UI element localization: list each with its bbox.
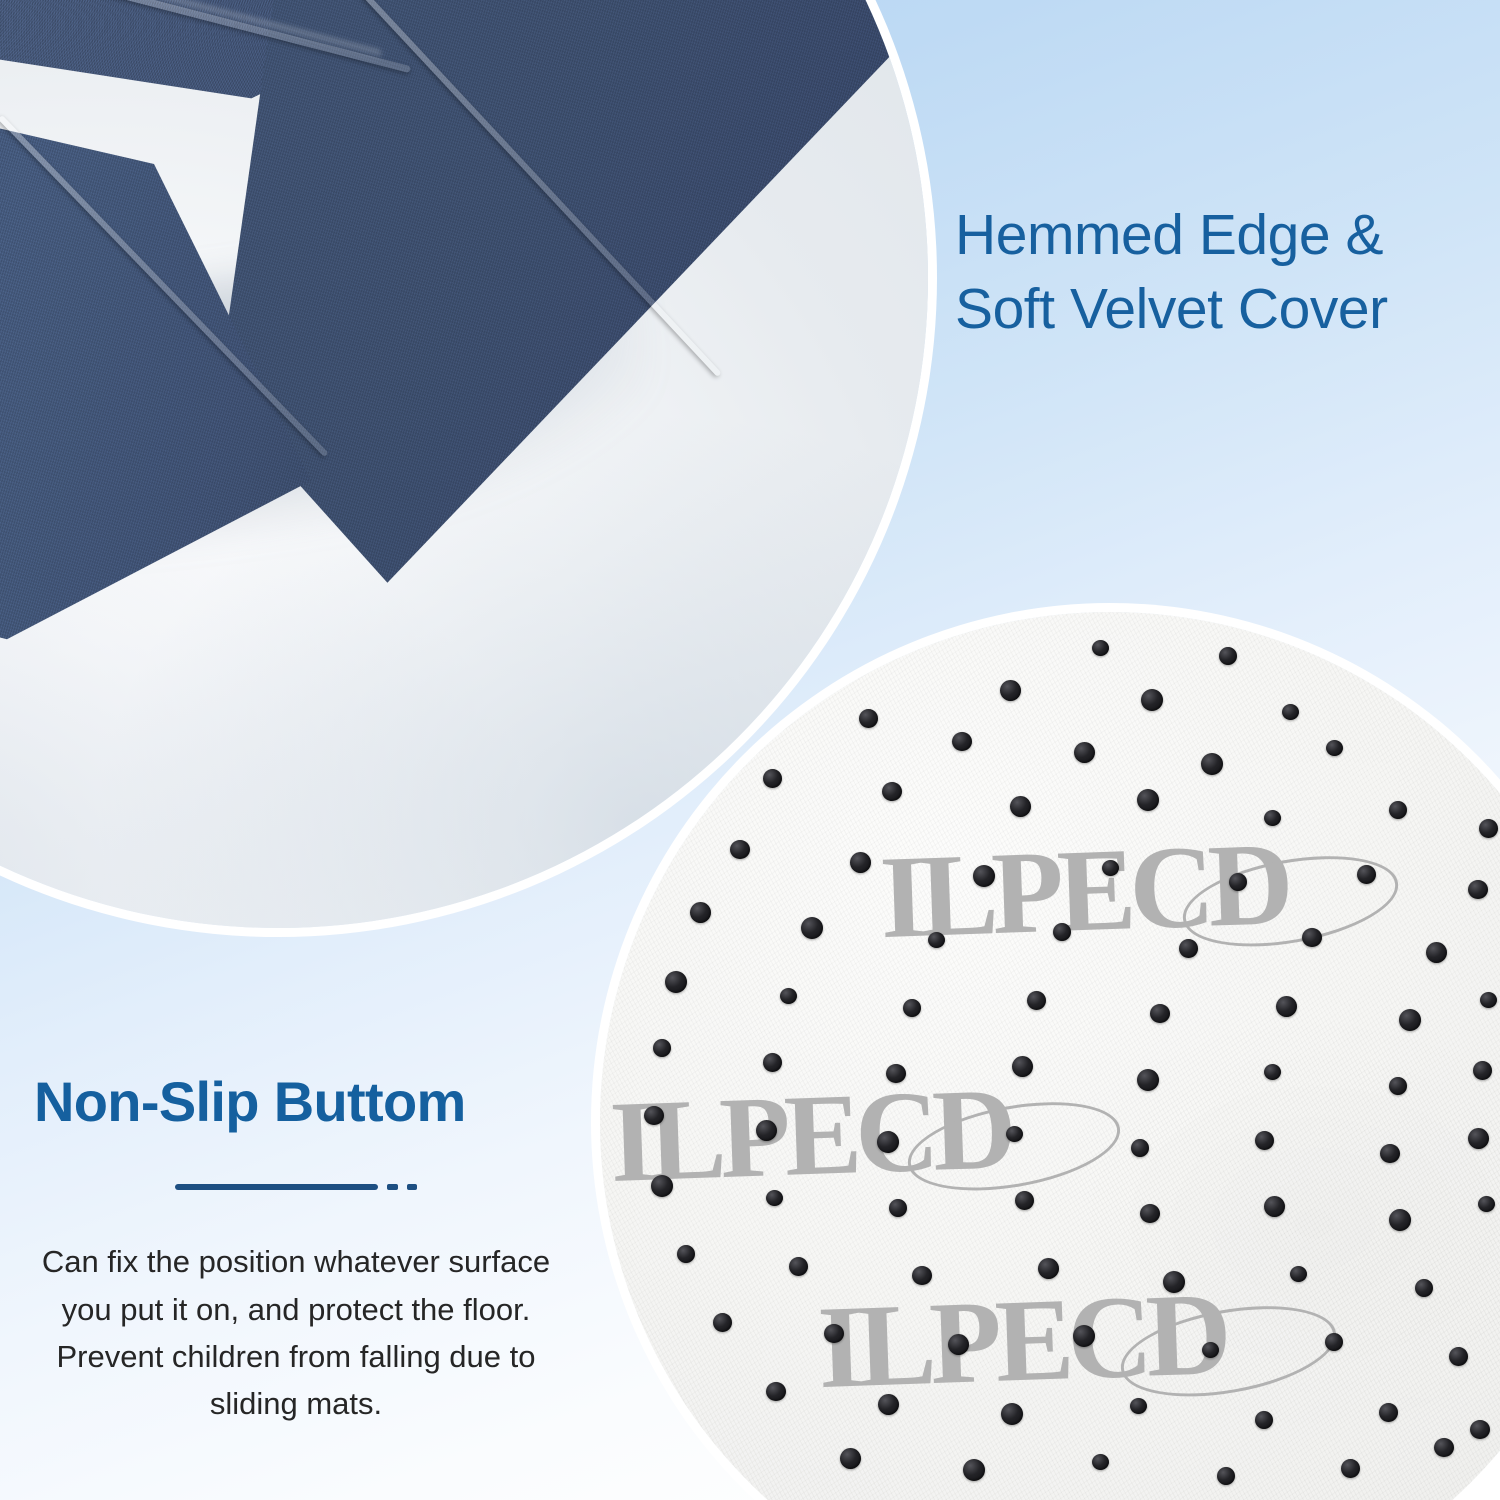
mat-rubber-dot bbox=[889, 1199, 907, 1217]
product-feature-graphic: Hemmed Edge & Soft Velvet Cover ILPECDIL… bbox=[0, 0, 1500, 1500]
mat-rubber-dot bbox=[1038, 1258, 1059, 1279]
mat-rubber-dot bbox=[878, 1394, 899, 1415]
mat-rubber-dot bbox=[1478, 1196, 1495, 1212]
mat-rubber-dot bbox=[780, 988, 797, 1004]
mat-rubber-dot bbox=[1150, 1004, 1170, 1023]
mat-rubber-dot bbox=[1137, 789, 1159, 811]
mat-rubber-dot bbox=[1163, 1271, 1185, 1293]
divider-line bbox=[175, 1184, 378, 1190]
mat-rubber-dot bbox=[1015, 1191, 1034, 1210]
mat-rubber-dot bbox=[1137, 1069, 1159, 1091]
mat-rubber-dot bbox=[713, 1313, 732, 1332]
mat-rubber-dot bbox=[665, 971, 687, 993]
mat-rubber-dot bbox=[1217, 1467, 1235, 1485]
mat-rubber-dot bbox=[1415, 1279, 1433, 1297]
mat-rubber-dot bbox=[1012, 1056, 1033, 1077]
mat-rubber-dot bbox=[1434, 1438, 1454, 1457]
feature-bottom-heading: Non-Slip Buttom bbox=[22, 1072, 570, 1132]
mat-rubber-dot bbox=[1255, 1411, 1273, 1429]
mat-rubber-dot bbox=[766, 1190, 783, 1206]
mat-rubber-dot bbox=[1074, 742, 1095, 763]
mat-rubber-dot bbox=[1282, 704, 1299, 720]
section-divider bbox=[22, 1174, 570, 1200]
mat-rubber-dot bbox=[1006, 1126, 1023, 1142]
mat-rubber-dot bbox=[824, 1324, 844, 1343]
mat-rubber-dot bbox=[1092, 640, 1109, 656]
mat-rubber-dot bbox=[859, 709, 878, 728]
mat-rubber-dot bbox=[1341, 1459, 1360, 1478]
mat-rubber-dot bbox=[1001, 1403, 1023, 1425]
mat-rubber-dot bbox=[1473, 1061, 1492, 1080]
mat-rubber-dot bbox=[1229, 873, 1247, 891]
mat-rubber-dot bbox=[1179, 939, 1198, 958]
body-line-2: you put it on, and protect the floor. bbox=[22, 1286, 570, 1333]
mat-rubber-dot bbox=[1130, 1398, 1147, 1414]
feature-bottom-body: Can fix the position whatever surfaceyou… bbox=[22, 1238, 570, 1426]
mat-rubber-dot bbox=[912, 1266, 932, 1285]
mat-rubber-dot bbox=[1202, 1342, 1219, 1358]
mat-rubber-dot bbox=[677, 1245, 695, 1263]
mat-rubber-dot bbox=[1379, 1403, 1398, 1422]
mat-rubber-dot bbox=[1073, 1325, 1095, 1347]
mat-rubber-dot bbox=[1102, 860, 1119, 876]
mat-rubber-dot bbox=[1276, 996, 1297, 1017]
mat-rubber-dot bbox=[963, 1459, 985, 1481]
mat-rubber-dot bbox=[1302, 928, 1322, 947]
body-line-3: Prevent children from falling due to bbox=[22, 1333, 570, 1380]
mat-rubber-dot bbox=[886, 1064, 906, 1083]
mat-rubber-dot bbox=[1380, 1144, 1400, 1163]
mat-rubber-dot bbox=[1326, 740, 1343, 756]
mat-rubber-dot bbox=[763, 769, 782, 788]
mat-rubber-dot bbox=[1219, 647, 1237, 665]
mat-rubber-dot bbox=[653, 1039, 671, 1057]
mat-watermark-3: ILPECD bbox=[816, 1275, 1227, 1407]
mat-rubber-dot bbox=[1480, 992, 1497, 1008]
mat-rubber-dot bbox=[756, 1120, 777, 1141]
mat-rubber-dot bbox=[1201, 753, 1223, 775]
mat-rubber-dot bbox=[1468, 1128, 1489, 1149]
mat-rubber-dot bbox=[850, 852, 871, 873]
mat-rubber-dot bbox=[1027, 991, 1046, 1010]
mat-rubber-dot bbox=[1140, 1204, 1160, 1223]
mat-rubber-dot bbox=[1264, 810, 1281, 826]
mat-rubber-dot bbox=[766, 1382, 786, 1401]
mat-rubber-dot bbox=[801, 917, 823, 939]
mat-rubber-dot bbox=[1399, 1009, 1421, 1031]
mat-rubber-dot bbox=[644, 1106, 664, 1125]
mat-rubber-dot bbox=[1389, 1209, 1411, 1231]
mat-rubber-dot bbox=[1010, 796, 1031, 817]
mat-rubber-dot bbox=[877, 1131, 899, 1153]
mat-rubber-dot bbox=[840, 1448, 861, 1469]
mat-rubber-dot bbox=[973, 865, 995, 887]
mat-rubber-dot bbox=[928, 932, 945, 948]
mat-rubber-dot bbox=[882, 782, 902, 801]
mat-rubber-dot bbox=[1092, 1454, 1109, 1470]
mat-rubber-dot bbox=[1264, 1064, 1281, 1080]
mat-rubber-dot bbox=[1468, 880, 1488, 899]
mat-rubber-dot bbox=[1000, 680, 1021, 701]
mat-rubber-dot bbox=[763, 1053, 782, 1072]
mat-rubber-dot bbox=[1470, 1420, 1490, 1439]
mat-rubber-dot bbox=[1426, 942, 1447, 963]
mat-rubber-dot bbox=[1053, 923, 1071, 941]
mat-rubber-dot bbox=[1290, 1266, 1307, 1282]
mat-rubber-dot bbox=[1449, 1347, 1468, 1366]
mat-rubber-dot bbox=[730, 840, 750, 859]
mat-rubber-dot bbox=[690, 902, 711, 923]
body-line-1: Can fix the position whatever surface bbox=[22, 1238, 570, 1285]
mat-rubber-dot bbox=[1389, 801, 1407, 819]
mat-rubber-dot bbox=[789, 1257, 808, 1276]
mat-rubber-dot bbox=[952, 732, 972, 751]
mat-rubber-dot bbox=[1479, 819, 1498, 838]
feature-top-heading: Hemmed Edge & Soft Velvet Cover bbox=[955, 198, 1485, 346]
mat-rubber-dot bbox=[903, 999, 921, 1017]
mat-rubber-dot bbox=[1131, 1139, 1149, 1157]
mat-rubber-dot bbox=[1357, 865, 1376, 884]
mat-rubber-dot bbox=[1141, 689, 1163, 711]
heading-line-1: Hemmed Edge & bbox=[955, 198, 1485, 272]
mat-rubber-dot bbox=[1264, 1196, 1285, 1217]
heading-line-2: Soft Velvet Cover bbox=[955, 272, 1485, 346]
divider-dash-1 bbox=[387, 1184, 398, 1190]
mat-rubber-dot bbox=[948, 1334, 969, 1355]
feature-bottom-text-block: Non-Slip Buttom Can fix the position wha… bbox=[22, 1072, 570, 1427]
mat-rubber-dot bbox=[1255, 1131, 1274, 1150]
divider-dash-2 bbox=[407, 1184, 417, 1190]
body-line-4: sliding mats. bbox=[22, 1380, 570, 1427]
mat-rubber-dot bbox=[1389, 1077, 1407, 1095]
non-slip-dotted-mat-photo: ILPECDILPECDILPECD bbox=[600, 612, 1500, 1500]
mat-rubber-dot bbox=[1325, 1333, 1343, 1351]
mat-rubber-dot bbox=[651, 1175, 673, 1197]
